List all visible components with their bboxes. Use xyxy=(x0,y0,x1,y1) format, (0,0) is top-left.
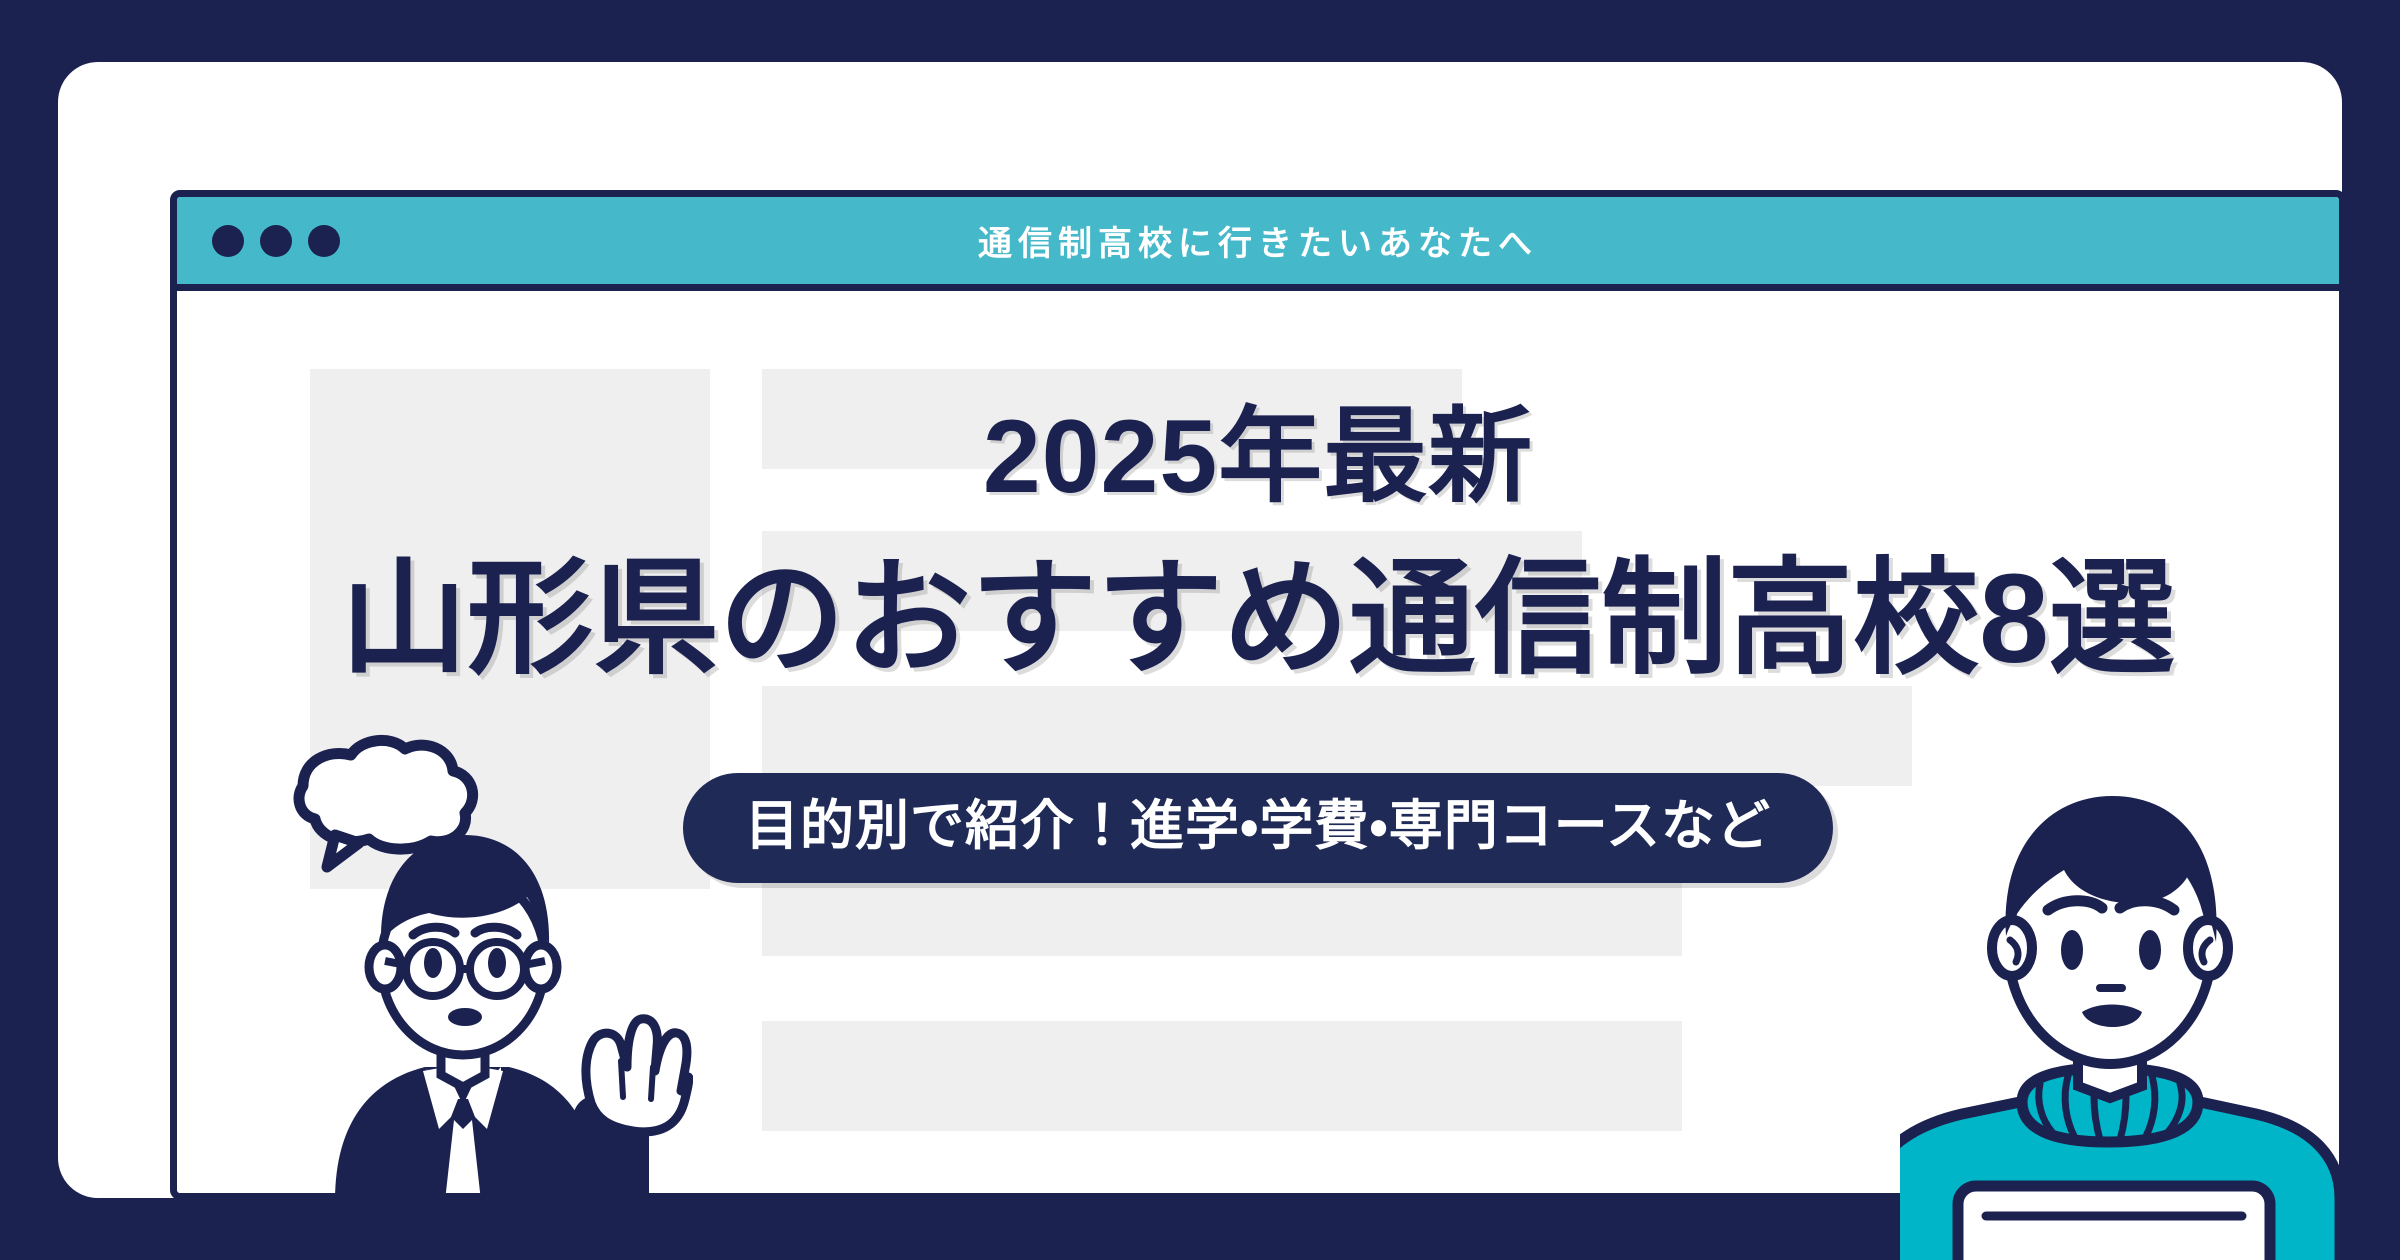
window-dot-1-icon[interactable] xyxy=(212,225,244,257)
sidebar-placeholder xyxy=(310,369,710,889)
browser-content: 2025年最新 山形県のおすすめ通信制高校8選 目的別で紹介！進学・学費・専門コ… xyxy=(177,291,2339,1193)
text-line-placeholder-1 xyxy=(762,369,1462,469)
text-line-placeholder-2 xyxy=(762,531,1582,631)
browser-titlebar: 通信制高校に行きたいあなたへ xyxy=(177,197,2339,291)
window-dot-3-icon[interactable] xyxy=(308,225,340,257)
browser-window: 通信制高校に行きたいあなたへ 2025年最新 xyxy=(170,190,2346,1200)
text-line-placeholder-3 xyxy=(762,686,1912,786)
text-line-placeholder-4 xyxy=(762,846,1682,956)
outer-card: 通信制高校に行きたいあなたへ 2025年最新 xyxy=(58,62,2342,1198)
window-controls[interactable] xyxy=(212,225,340,257)
eyebrow-highlight xyxy=(977,470,1539,506)
window-dot-2-icon[interactable] xyxy=(260,225,292,257)
browser-titlebar-title: 通信制高校に行きたいあなたへ xyxy=(177,216,2339,265)
thumbnail-canvas: 通信制高校に行きたいあなたへ 2025年最新 xyxy=(0,0,2400,1260)
text-line-placeholder-5 xyxy=(762,1021,1682,1131)
